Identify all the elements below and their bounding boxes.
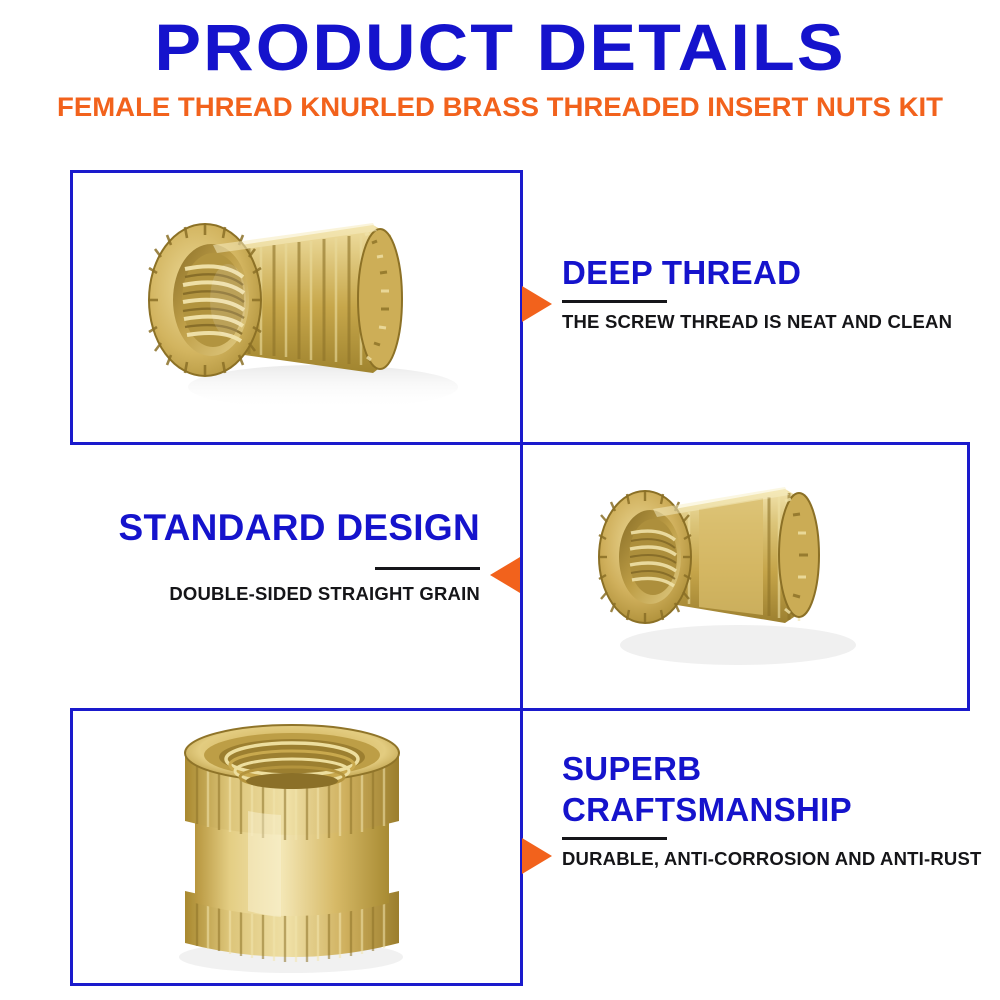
product-details-infographic: PRODUCT DETAILS FEMALE THREAD KNURLED BR… (0, 0, 1000, 1000)
page-subtitle: FEMALE THREAD KNURLED BRASS THREADED INS… (0, 92, 1000, 122)
pointer-arrow-superb-craftsmanship (522, 838, 552, 874)
brass-nut-angled-view-icon (523, 445, 967, 708)
frame-line-panel1-bottom (70, 442, 523, 445)
feature-divider-deep-thread (562, 300, 667, 303)
feature-heading-superb-craftsmanship-line2: CRAFTSMANSHIP (562, 789, 982, 830)
feature-heading-superb-craftsmanship-line1: SUPERB (562, 748, 982, 789)
page-title: PRODUCT DETAILS (0, 14, 1000, 80)
feature-caption-standard-design: DOUBLE-SIDED STRAIGHT GRAIN (60, 582, 480, 606)
feature-text-superb-craftsmanship: SUPERB CRAFTSMANSHIP DURABLE, ANTI-CORRO… (562, 748, 982, 871)
brass-nut-upright-view-icon (73, 711, 520, 983)
feature-text-deep-thread: DEEP THREAD THE SCREW THREAD IS NEAT AND… (562, 252, 962, 334)
header: PRODUCT DETAILS FEMALE THREAD KNURLED BR… (0, 0, 1000, 150)
product-photo-standard-design (523, 445, 967, 708)
feature-text-standard-design: STANDARD DESIGN DOUBLE-SIDED STRAIGHT GR… (60, 505, 480, 606)
pointer-arrow-deep-thread (522, 286, 552, 322)
feature-heading-standard-design: STANDARD DESIGN (60, 505, 480, 551)
feature-heading-deep-thread: DEEP THREAD (562, 252, 962, 293)
frame-line-panel3-bottom (70, 983, 523, 986)
feature-divider-superb-craftsmanship (562, 837, 667, 840)
product-photo-deep-thread (73, 173, 520, 442)
frame-line-panel2-right (967, 442, 970, 711)
pointer-arrow-standard-design (490, 557, 520, 593)
feature-divider-standard-design (375, 567, 480, 570)
product-photo-superb-craftsmanship (73, 711, 520, 983)
feature-caption-deep-thread: THE SCREW THREAD IS NEAT AND CLEAN (562, 310, 962, 334)
feature-caption-superb-craftsmanship: DURABLE, ANTI-CORROSION AND ANTI-RUST (562, 847, 982, 871)
frame-line-panel2-bottom (520, 708, 970, 711)
brass-nut-side-view-icon (73, 173, 520, 442)
